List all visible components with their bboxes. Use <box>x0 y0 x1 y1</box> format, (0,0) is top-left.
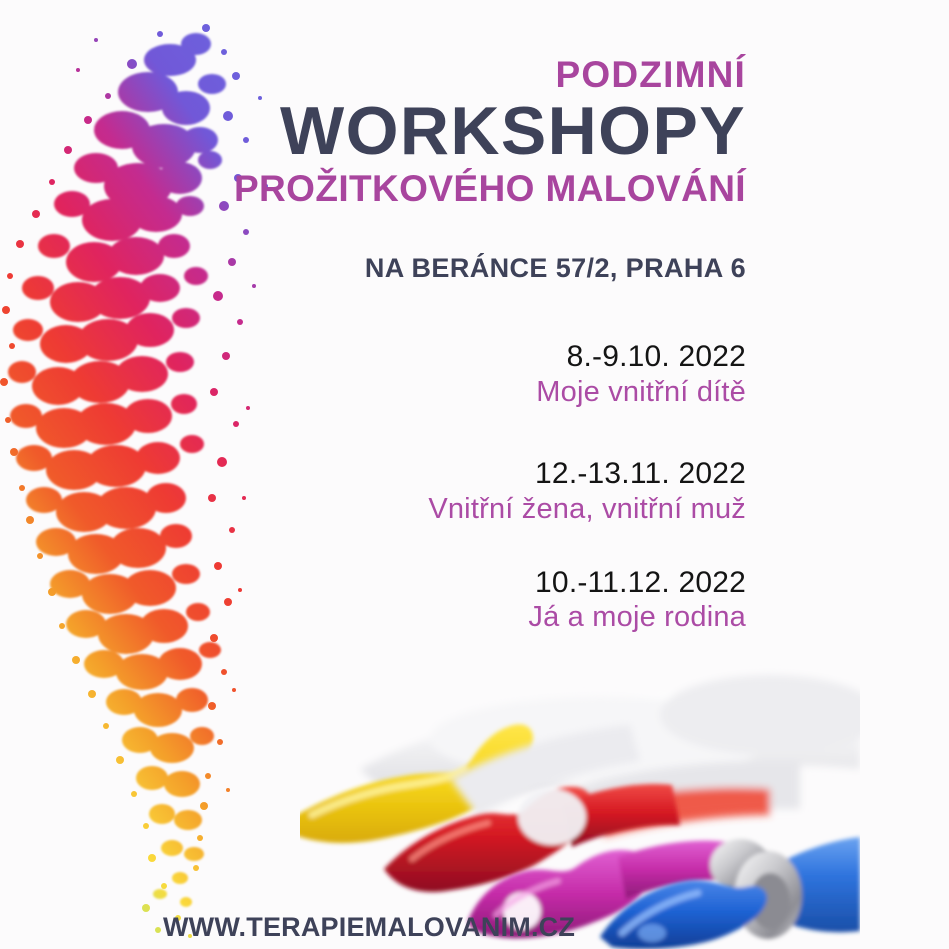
event-title: Já a moje rodina <box>230 600 746 635</box>
poster-text-column: PODZIMNÍ WORKSHOPY PROŽITKOVÉHO MALOVÁNÍ… <box>230 0 746 635</box>
list-item: 10.-11.12. 2022 Já a moje rodina <box>230 527 746 635</box>
list-item: 8.-9.10. 2022 Moje vnitřní dítě <box>230 282 746 409</box>
kicker-text: PODZIMNÍ <box>230 0 746 94</box>
venue-address: NA BERÁNCE 57/2, PRAHA 6 <box>230 209 746 282</box>
poster-canvas: PODZIMNÍ WORKSHOPY PROŽITKOVÉHO MALOVÁNÍ… <box>0 0 949 949</box>
paint-tubes-photo <box>300 619 860 949</box>
events-list: 8.-9.10. 2022 Moje vnitřní dítě 12.-13.1… <box>230 282 746 635</box>
event-title: Moje vnitřní dítě <box>230 375 746 410</box>
list-item: 12.-13.11. 2022 Vnitřní žena, vnitřní mu… <box>230 409 746 526</box>
event-date: 12.-13.11. 2022 <box>230 456 746 491</box>
event-date: 8.-9.10. 2022 <box>230 339 746 374</box>
website-url[interactable]: WWW.TERAPIEMALOVANIM.CZ <box>163 912 575 943</box>
subtitle-text: PROŽITKOVÉHO MALOVÁNÍ <box>230 166 746 209</box>
event-title: Vnitřní žena, vnitřní muž <box>230 492 746 527</box>
event-date: 10.-11.12. 2022 <box>230 565 746 600</box>
page-title: WORKSHOPY <box>230 94 746 166</box>
